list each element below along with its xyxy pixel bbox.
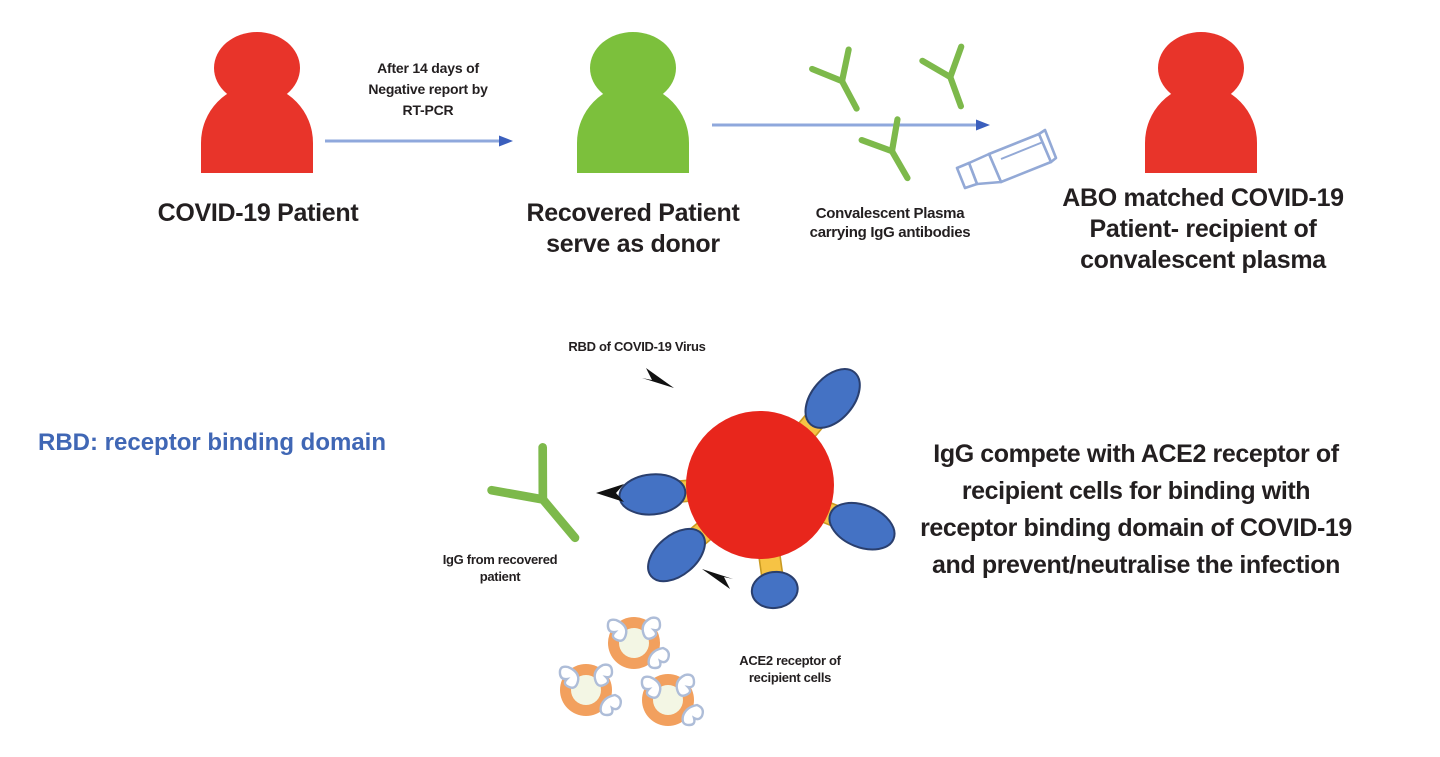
igg-recovered-patient-icon (495, 452, 595, 552)
arrow1-label: After 14 days of Negative report by RT-P… (330, 58, 526, 121)
covid19-patient-person-icon (196, 28, 318, 173)
person-icon (196, 28, 318, 173)
rbd-legend: RBD: receptor binding domain (38, 428, 498, 458)
arrow2 (712, 117, 992, 133)
explanation-line: receptor binding domain of COVID-19 (878, 510, 1394, 547)
explanation-line: IgG compete with ACE2 receptor of (878, 436, 1394, 473)
arrow-pointer-icon (594, 482, 628, 504)
arrow-pointer-icon (640, 366, 676, 392)
right-arrow-icon (325, 133, 515, 149)
caption-line: Patient- recipient of (1003, 214, 1403, 245)
igg-from-recovered-patient-label: IgG from recovered patient (400, 551, 600, 585)
caption-line: recipient cells (690, 669, 890, 686)
right-arrow-icon (712, 117, 992, 133)
igg-pointer-arrow-icon (594, 482, 628, 504)
explanation-line: recipient cells for binding with (878, 473, 1394, 510)
antibody-igg-icon (812, 52, 874, 114)
rbd-legend-text: RBD: receptor binding domain (38, 428, 498, 458)
explanation-paragraph: IgG compete with ACE2 receptor of recipi… (878, 436, 1394, 584)
antibody-igg-icon (862, 122, 924, 184)
antibody-icon (812, 52, 874, 114)
figure-canvas: COVID-19 Patient After 14 days of Negati… (0, 0, 1440, 757)
caption-line: ABO matched COVID-19 (1003, 183, 1403, 214)
convalescent-plasma-caption: Convalescent Plasma carrying IgG antibod… (755, 204, 1025, 242)
caption-line: carrying IgG antibodies (755, 223, 1025, 242)
bottom-spike-pointer-arrow-icon (700, 566, 734, 592)
antibody-icon (920, 48, 982, 110)
antibody-icon (495, 452, 595, 552)
caption-line: COVID-19 Patient (118, 198, 398, 229)
arrow-pointer-icon (700, 566, 734, 592)
ace2-receptor-label: ACE2 receptor of recipient cells (690, 652, 890, 686)
recipient-patient-person-icon (1140, 28, 1262, 173)
antibody-icon (862, 122, 924, 184)
caption-line: serve as donor (493, 229, 773, 260)
recipient-patient-caption: ABO matched COVID-19 Patient- recipient … (1003, 183, 1403, 276)
explanation-line: and prevent/neutralise the infection (878, 547, 1394, 584)
caption-line: Convalescent Plasma (755, 204, 1025, 223)
ace2-cell (608, 617, 669, 669)
ace2-cell (560, 664, 621, 716)
caption-line: ACE2 receptor of (690, 652, 890, 669)
arrow1 (325, 133, 515, 149)
covid19-patient-caption: COVID-19 Patient (118, 198, 398, 229)
virus-core (686, 411, 834, 559)
caption-line: IgG from recovered (400, 551, 600, 568)
caption-line: Recovered Patient (493, 198, 773, 229)
caption-line: patient (400, 568, 600, 585)
arrow1-label-line: After 14 days of (330, 58, 526, 79)
caption-line: convalescent plasma (1003, 245, 1403, 276)
recovered-patient-caption: Recovered Patient serve as donor (493, 198, 773, 260)
recovered-patient-person-icon (572, 28, 694, 173)
person-icon (1140, 28, 1262, 173)
antibody-igg-icon (920, 48, 982, 110)
arrow1-label-line: RT-PCR (330, 100, 526, 121)
rbd-pointer-arrow-icon (640, 366, 676, 392)
person-icon (572, 28, 694, 173)
arrow1-label-line: Negative report by (330, 79, 526, 100)
